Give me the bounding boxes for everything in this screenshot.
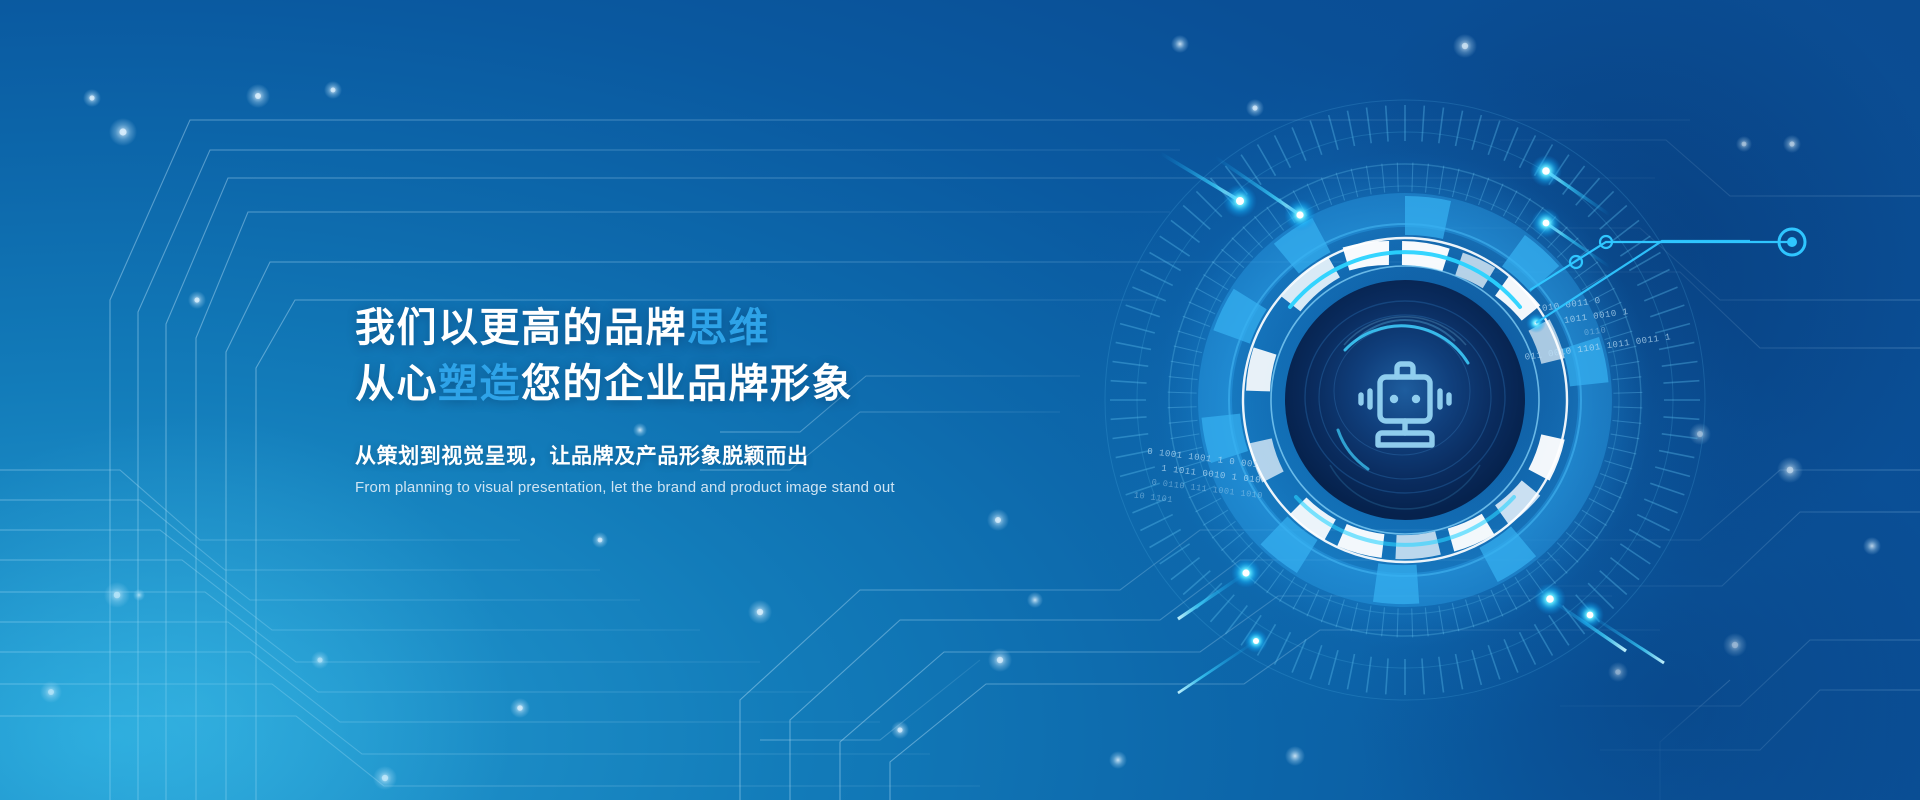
subtitle-chinese: 从策划到视觉呈现，让品牌及产品形象脱颖而出 xyxy=(355,442,1115,472)
headline-line-1: 我们以更高的品牌思维 xyxy=(355,300,1115,356)
subtitle-english: From planning to visual presentation, le… xyxy=(355,477,1115,499)
trace-group-right xyxy=(1430,140,1920,800)
headline-line2-suffix: 您的企业品牌形象 xyxy=(521,362,853,406)
headline-line1-accent: 思维 xyxy=(687,306,770,350)
headline-line-2: 从心塑造您的企业品牌形象 xyxy=(355,356,1115,412)
headline-line1-prefix: 我们以更高的品牌 xyxy=(355,306,687,350)
hero-banner: 010 0011 0 1011 0010 1 0110 011 0010 110… xyxy=(0,0,1920,800)
headline-line2-prefix: 从心 xyxy=(355,362,438,406)
trace-group-mid-left xyxy=(0,470,980,786)
headline-line2-accent: 塑造 xyxy=(438,362,521,406)
copy-block: 我们以更高的品牌思维 从心塑造您的企业品牌形象 从策划到视觉呈现，让品牌及产品形… xyxy=(355,300,1115,499)
